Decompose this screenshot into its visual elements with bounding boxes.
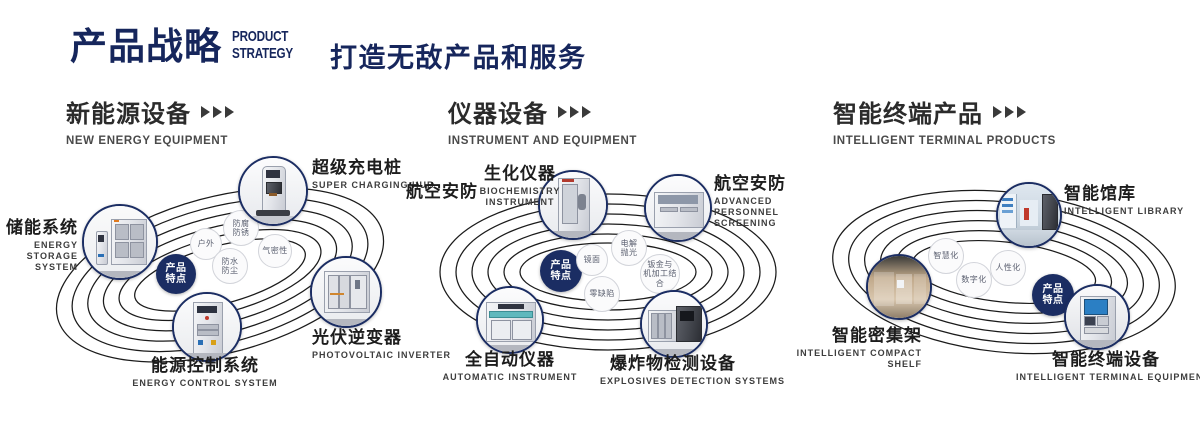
core-line1: 产品 [166,263,187,274]
label-aviation-security-left: 航空安防 [406,182,478,202]
node-energy-control-system[interactable] [172,292,242,362]
node-advanced-personnel-screening[interactable] [644,174,712,242]
label-explosives-detection-systems: 爆炸物检测设备 EXPLOSIVES DETECTION SYSTEMS [600,354,746,387]
core-line1: 产品 [551,260,572,271]
feature-bubble: 钣金与 机加工结合 [640,254,680,294]
section-title-cn: 仪器设备 [448,94,548,129]
section-heading-instrument: 仪器设备 INSTRUMENT AND EQUIPMENT [448,94,637,147]
node-photovoltaic-inverter[interactable] [310,256,382,328]
feature-bubble: 数字化 [956,262,992,298]
section-title-cn: 智能终端产品 [833,94,983,129]
section-heading-new-energy: 新能源设备 NEW ENERGY EQUIPMENT [66,94,234,147]
product-strategy-infographic: 产品战略 PRODUCT STRATEGY 打造无敌产品和服务 新能源设备 NE… [0,0,1200,422]
page-subtitle: 打造无敌产品和服务 [330,36,587,75]
label-intelligent-compact-shelf: 智能密集架 INTELLIGENT COMPACT SHELF [786,326,922,370]
section-title-en: NEW ENERGY EQUIPMENT [66,135,234,147]
core-line2: 特点 [1043,295,1064,306]
section-title-en: INTELLIGENT TERMINAL PRODUCTS [833,135,1056,147]
label-energy-control-system: 能源控制系统 ENERGY CONTROL SYSTEM [90,356,320,389]
page-title-block: 产品战略 PRODUCT STRATEGY [70,24,310,70]
core-line1: 产品 [1043,284,1064,295]
core-line2: 特点 [166,274,187,285]
page-title-cn: 产品战略 [70,24,222,70]
cluster-new-energy-equipment: 产品 特点 户外 防腐 防锈 防水 防尘 气密性 [30,150,410,390]
core-line2: 特点 [551,271,572,282]
cluster-instrument-and-equipment: 产品 特点 镜面 电解 抛光 零缺陷 钣金与 机加工结合 [418,150,798,390]
cluster-intelligent-terminal-products: 产品 特点 智慧化 数字化 人性化 智能馆库 [808,150,1200,390]
node-automatic-instrument[interactable] [476,286,544,354]
triple-chevron-right-icon [201,106,234,118]
feature-bubble: 镜面 [576,244,608,276]
node-super-charging-hub[interactable] [238,156,308,226]
section-heading-intelligent-terminal: 智能终端产品 INTELLIGENT TERMINAL PRODUCTS [833,94,1056,147]
node-intelligent-terminal-equipment[interactable] [1064,284,1130,350]
page-title-en-line1: PRODUCT [232,28,293,45]
feature-bubble: 电解 抛光 [611,230,647,266]
section-title-en: INSTRUMENT AND EQUIPMENT [448,135,637,147]
section-title-cn: 新能源设备 [66,94,191,129]
triple-chevron-right-icon [558,106,591,118]
node-energy-storage-system[interactable] [82,204,158,280]
label-energy-storage-system: 储能系统 ENERGY STORAGE SYSTEM [6,218,78,273]
node-intelligent-compact-shelf[interactable] [866,254,932,320]
node-intelligent-library[interactable] [996,182,1062,248]
page-title-en-line2: STRATEGY [232,45,293,62]
core-bubble-product-features: 产品 特点 [156,254,196,294]
feature-bubble: 气密性 [258,234,292,268]
label-biochemistry-instrument: 生化仪器 BIOCHEMISTRY INSTRUMENT [460,164,580,208]
page-title-en: PRODUCT STRATEGY [232,28,293,62]
label-automatic-instrument: 全自动仪器 AUTOMATIC INSTRUMENT [440,350,580,383]
triple-chevron-right-icon [993,106,1026,118]
feature-bubble: 人性化 [990,250,1026,286]
feature-bubble: 零缺陷 [584,276,620,312]
label-intelligent-library: 智能馆库 INTELLIGENT LIBRARY [1064,184,1184,217]
feature-bubble: 防水 防尘 [212,248,248,284]
label-intelligent-terminal-equipment: 智能终端设备 INTELLIGENT TERMINAL EQUIPMENT [1016,350,1196,383]
node-explosives-detection-systems[interactable] [640,290,708,358]
